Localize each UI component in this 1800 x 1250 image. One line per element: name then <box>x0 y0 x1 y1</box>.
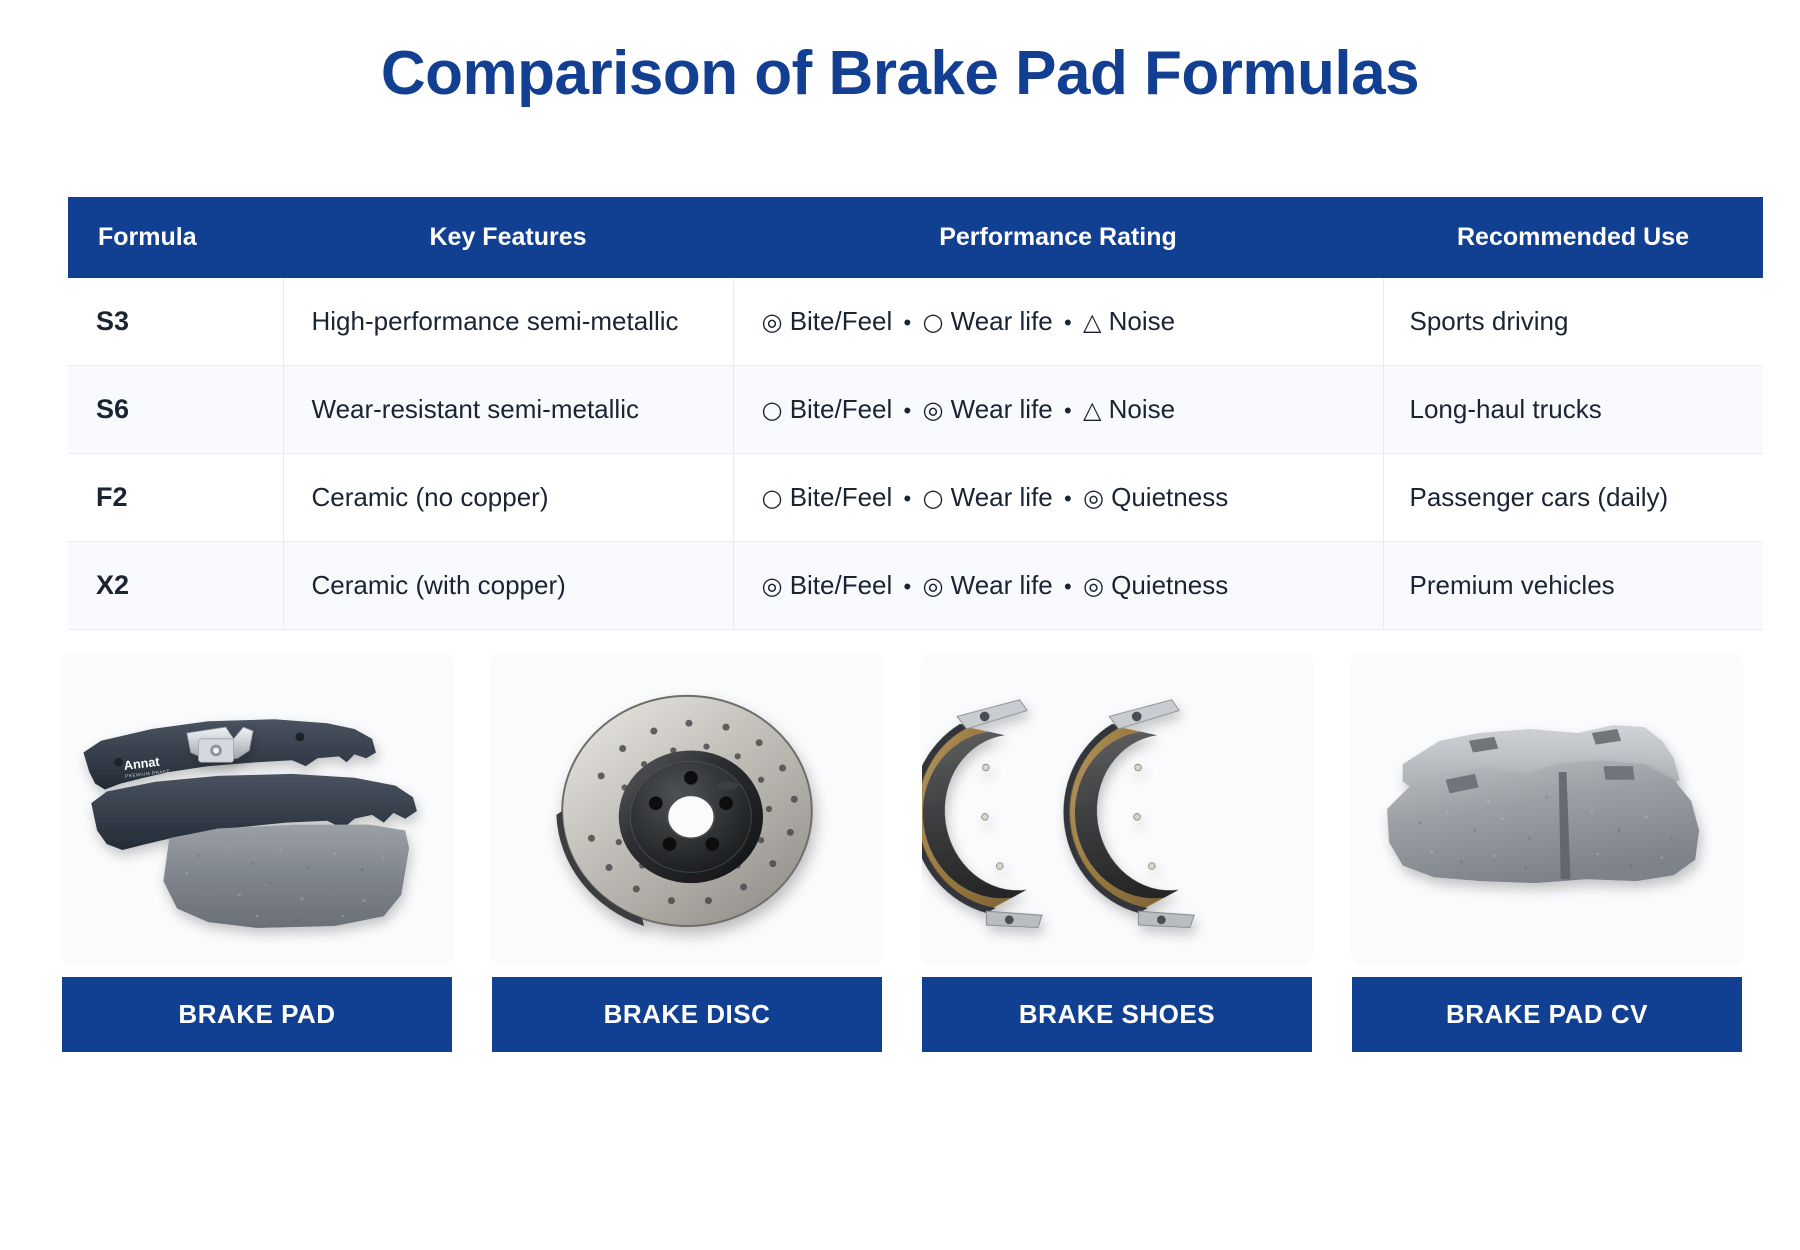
rating-symbol-bite: ◎ <box>762 572 783 600</box>
rating-separator: • <box>900 398 916 423</box>
rating-label-quiet: Quietness <box>1111 570 1228 600</box>
cell-key-features: Wear-resistant semi-metallic <box>283 366 733 454</box>
product-card-brake-pad-cv[interactable]: BRAKE PAD CV <box>1352 653 1742 1052</box>
cell-recommended-use: Premium vehicles <box>1383 542 1763 630</box>
rating-separator: • <box>1060 310 1076 335</box>
rating-separator: • <box>1060 574 1076 599</box>
product-card-brake-shoes[interactable]: BRAKE SHOES <box>922 653 1312 1052</box>
table-body: S3 High-performance semi-metallic ◎ Bite… <box>68 278 1763 630</box>
rating-label-bite: Bite/Feel <box>790 394 893 424</box>
rating-label-wear: Wear life <box>951 306 1053 336</box>
rating-symbol-wear: ◎ <box>922 572 943 600</box>
table-header-row: Formula Key Features Performance Rating … <box>68 197 1763 278</box>
card-label-brake-pad-cv: BRAKE PAD CV <box>1352 977 1742 1052</box>
rating-label-bite: Bite/Feel <box>790 306 893 336</box>
card-label-brake-shoes: BRAKE SHOES <box>922 977 1312 1052</box>
rating-separator: • <box>900 486 916 511</box>
rating-symbol-noise: △ <box>1083 308 1101 336</box>
column-header-recommended-use: Recommended Use <box>1383 197 1763 278</box>
rating-symbol-wear: ○ <box>922 484 943 512</box>
brake-shoes-photo <box>922 653 1312 965</box>
rating-label-bite: Bite/Feel <box>790 570 893 600</box>
rating-label-noise: Noise <box>1109 394 1175 424</box>
brake-pad-cv-icon <box>1352 653 1742 965</box>
table-row: S6 Wear-resistant semi-metallic ○ Bite/F… <box>68 366 1763 454</box>
table-row: F2 Ceramic (no copper) ○ Bite/Feel • ○ W… <box>68 454 1763 542</box>
cell-formula: S3 <box>68 278 283 366</box>
cell-key-features: Ceramic (no copper) <box>283 454 733 542</box>
product-card-brake-disc[interactable]: BRAKE DISC <box>492 653 882 1052</box>
rating-symbol-wear: ○ <box>922 308 943 336</box>
rating-label-noise: Noise <box>1109 306 1175 336</box>
table-header: Formula Key Features Performance Rating … <box>68 197 1763 278</box>
rating-label-wear: Wear life <box>951 482 1053 512</box>
cell-formula: F2 <box>68 454 283 542</box>
column-header-key-features: Key Features <box>283 197 733 278</box>
brake-pad-cv-photo <box>1352 653 1742 965</box>
page-title: Comparison of Brake Pad Formulas <box>0 0 1800 108</box>
cell-recommended-use: Long-haul trucks <box>1383 366 1763 454</box>
cell-performance-rating: ◎ Bite/Feel • ◎ Wear life • ◎ Quietness <box>733 542 1383 630</box>
rating-symbol-bite: ◎ <box>762 308 783 336</box>
rating-symbol-noise: △ <box>1083 396 1101 424</box>
cell-performance-rating: ◎ Bite/Feel • ○ Wear life • △ Noise <box>733 278 1383 366</box>
brake-disc-photo <box>492 653 882 965</box>
product-card-brake-pad[interactable]: Annat PREMIUM BRAKE <box>62 653 452 1052</box>
brake-pad-photo: Annat PREMIUM BRAKE <box>62 653 452 965</box>
rating-symbol-bite: ○ <box>762 396 783 424</box>
brake-shoes-icon <box>922 653 1312 965</box>
cell-performance-rating: ○ Bite/Feel • ○ Wear life • ◎ Quietness <box>733 454 1383 542</box>
rating-label-wear: Wear life <box>951 570 1053 600</box>
cell-recommended-use: Passenger cars (daily) <box>1383 454 1763 542</box>
column-header-formula: Formula <box>68 197 283 278</box>
rating-separator: • <box>1060 486 1076 511</box>
cell-key-features: High-performance semi-metallic <box>283 278 733 366</box>
rating-separator: • <box>1060 398 1076 423</box>
card-label-brake-disc: BRAKE DISC <box>492 977 882 1052</box>
card-label-brake-pad: BRAKE PAD <box>62 977 452 1052</box>
table-row: X2 Ceramic (with copper) ◎ Bite/Feel • ◎… <box>68 542 1763 630</box>
cell-performance-rating: ○ Bite/Feel • ◎ Wear life • △ Noise <box>733 366 1383 454</box>
cell-formula: X2 <box>68 542 283 630</box>
brake-disc-icon <box>492 653 882 965</box>
column-header-performance: Performance Rating <box>733 197 1383 278</box>
cell-formula: S6 <box>68 366 283 454</box>
brake-pad-icon: Annat PREMIUM BRAKE <box>62 653 452 965</box>
rating-symbol-quiet: ◎ <box>1083 484 1104 512</box>
cell-key-features: Ceramic (with copper) <box>283 542 733 630</box>
rating-symbol-wear: ◎ <box>922 396 943 424</box>
rating-label-wear: Wear life <box>951 394 1053 424</box>
rating-label-quiet: Quietness <box>1111 482 1228 512</box>
rating-label-bite: Bite/Feel <box>790 482 893 512</box>
rating-separator: • <box>900 310 916 335</box>
rating-separator: • <box>900 574 916 599</box>
rating-symbol-quiet: ◎ <box>1083 572 1104 600</box>
brake-formula-comparison-table: Formula Key Features Performance Rating … <box>68 197 1763 630</box>
comparison-table-wrapper: Formula Key Features Performance Rating … <box>68 197 1733 630</box>
cell-recommended-use: Sports driving <box>1383 278 1763 366</box>
table-row: S3 High-performance semi-metallic ◎ Bite… <box>68 278 1763 366</box>
product-card-strip: Annat PREMIUM BRAKE <box>62 653 1742 1052</box>
rating-symbol-bite: ○ <box>762 484 783 512</box>
